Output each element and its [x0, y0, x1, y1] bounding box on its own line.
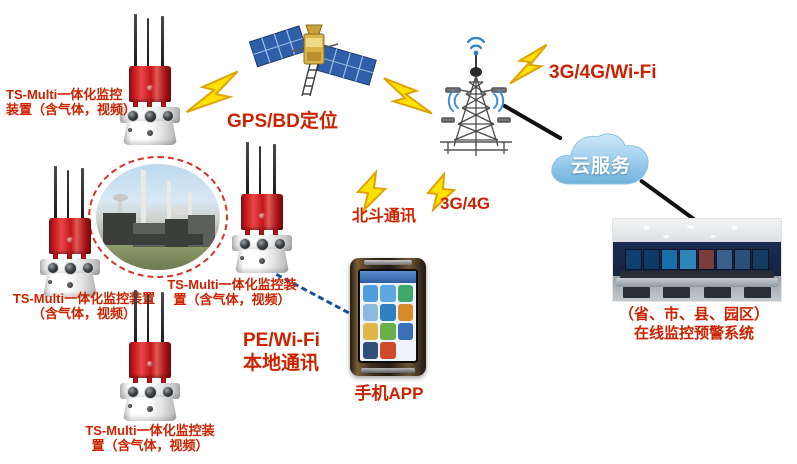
cloud-service-label: 云服务 [545, 151, 657, 178]
diagram-canvas: 云服务 [0, 0, 797, 464]
link-label-beidou: 北斗通讯 [352, 208, 416, 226]
sensor-top-left[interactable] [110, 14, 190, 146]
link-label-wireless: 3G/4G/Wi-Fi [549, 62, 657, 84]
link-label-gps-bd: GPS/BD定位 [227, 111, 338, 133]
pda-app-icon[interactable] [363, 285, 378, 302]
pda-app-icon[interactable] [363, 304, 378, 321]
satellite-icon [246, 8, 378, 104]
pda-app-icon[interactable] [363, 323, 378, 340]
video-wall [625, 249, 769, 270]
control-room-photo [612, 218, 782, 302]
cell-tower-icon [424, 22, 528, 160]
sensor-bottom-left[interactable] [110, 290, 190, 422]
sensor-mid-center[interactable] [222, 142, 302, 274]
sensor-bottom-left-label: TS-Multi一体化监控装 置（含气体，视频） [62, 424, 238, 454]
handheld-label: 手机APP [340, 384, 438, 404]
pda-app-icon[interactable] [363, 342, 378, 359]
link-label-3g4g: 3G/4G [440, 194, 490, 214]
pda-screen[interactable] [358, 269, 418, 363]
control-room-label: （省、市、县、园区） 在线监控预警系统 [592, 306, 796, 344]
pda-app-grid[interactable] [363, 285, 413, 359]
handheld-device[interactable] [350, 258, 426, 376]
pda-app-icon[interactable] [398, 342, 413, 359]
pda-app-icon[interactable] [380, 342, 395, 359]
sensor-top-left-label: TS-Multi一体化监控 装置（含气体，视频） [6, 88, 146, 118]
pda-app-icon[interactable] [380, 323, 395, 340]
link-label-local: PE/Wi-Fi 本地通讯 [243, 330, 320, 376]
pda-app-icon[interactable] [398, 323, 413, 340]
pda-app-icon[interactable] [380, 285, 395, 302]
bolt-gps-right [376, 71, 437, 123]
cloud-service-node[interactable]: 云服务 [545, 122, 657, 194]
pda-speaker [364, 260, 413, 265]
sensor-mid-left[interactable] [30, 166, 110, 298]
pda-app-icon[interactable] [380, 304, 395, 321]
bolt-wireless [505, 42, 556, 87]
pda-status-bar [360, 271, 416, 283]
pda-bottom-bar [361, 368, 416, 373]
bolt-beidou [352, 170, 392, 212]
pda-app-icon[interactable] [398, 285, 413, 302]
pda-app-icon[interactable] [398, 304, 413, 321]
